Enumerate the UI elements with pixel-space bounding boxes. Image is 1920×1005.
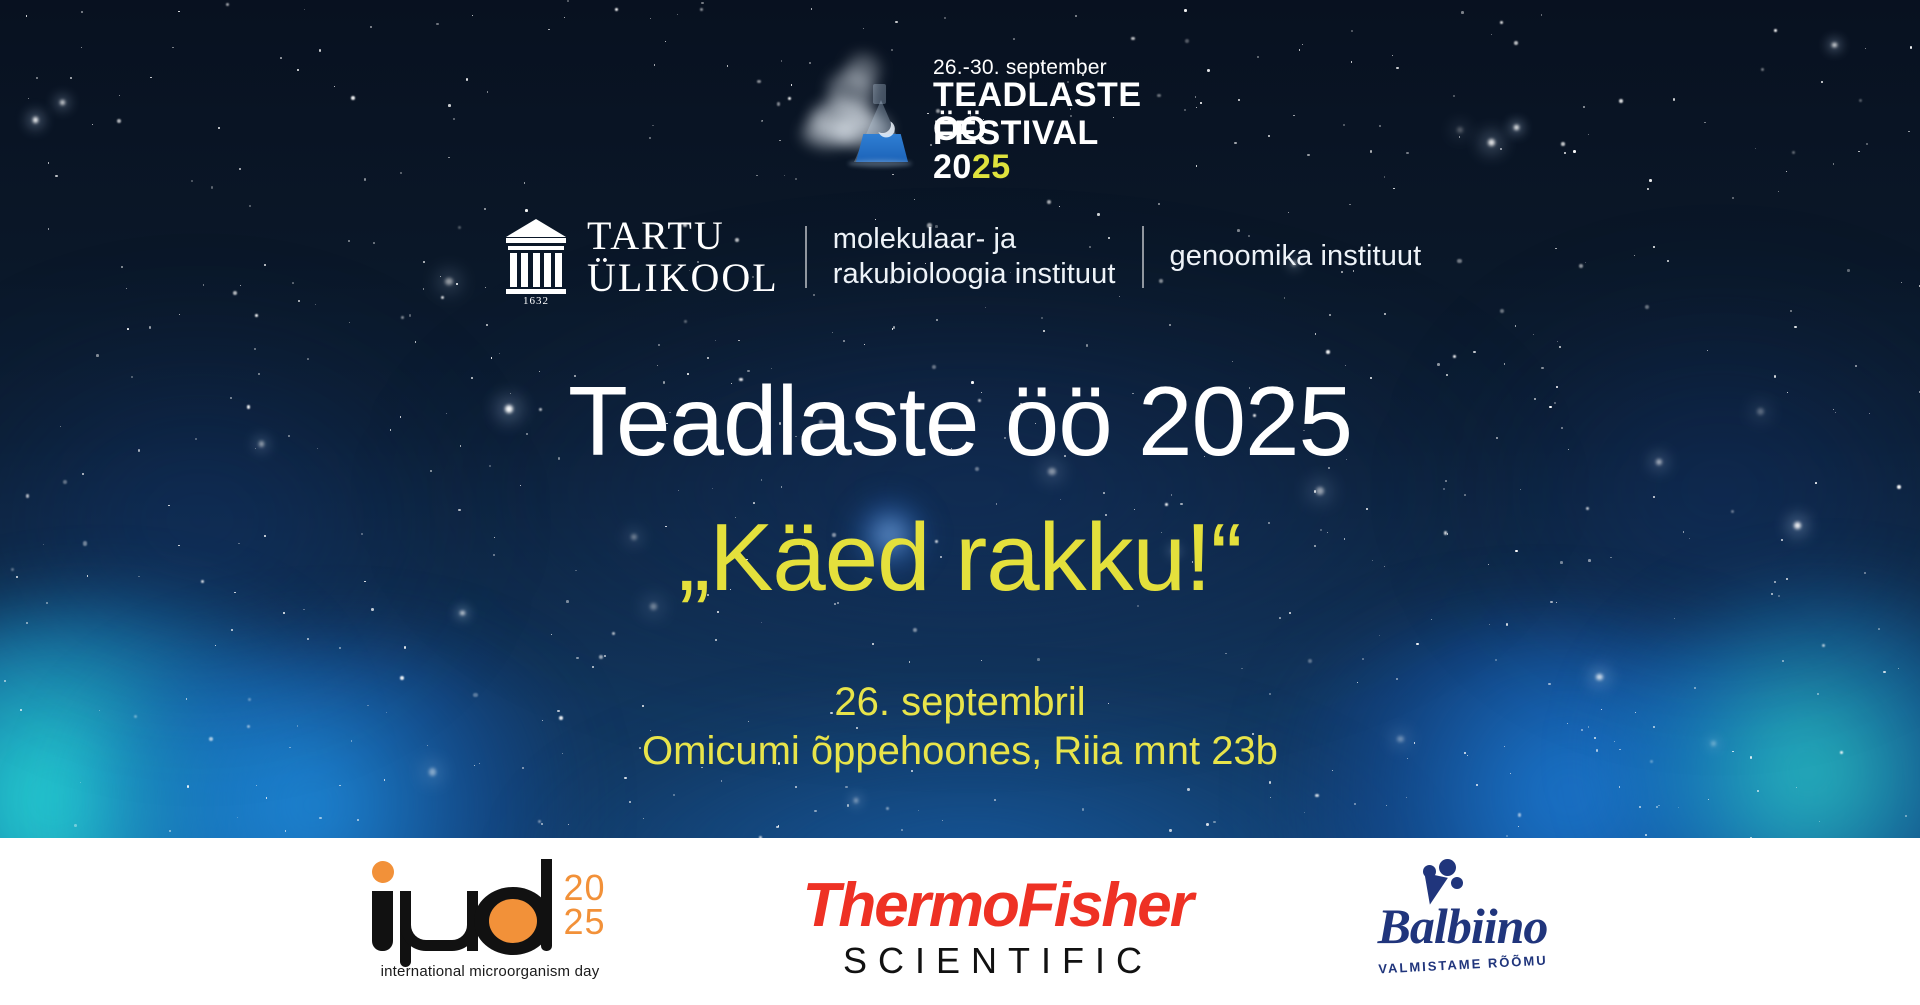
star xyxy=(80,782,81,783)
star xyxy=(994,799,996,801)
star xyxy=(756,175,758,177)
star xyxy=(1878,628,1880,630)
star xyxy=(1082,808,1084,810)
festival-line2-accent: 25 xyxy=(972,148,1011,186)
star xyxy=(1796,787,1797,788)
star xyxy=(1314,490,1317,493)
page-title: Teadlaste öö 2025 xyxy=(0,372,1920,470)
star xyxy=(400,172,402,174)
star xyxy=(1459,136,1461,138)
star xyxy=(1564,152,1566,154)
star xyxy=(226,3,229,6)
star xyxy=(401,316,404,319)
star xyxy=(738,340,739,341)
star xyxy=(1476,784,1478,786)
star xyxy=(55,175,58,178)
star xyxy=(624,777,627,780)
star xyxy=(1559,346,1561,348)
star xyxy=(654,64,656,66)
star xyxy=(1790,310,1792,312)
institute-genomics: genoomika instituut xyxy=(1170,239,1422,274)
star xyxy=(1858,151,1860,153)
star xyxy=(1315,333,1317,335)
star xyxy=(1821,81,1823,83)
star xyxy=(784,175,785,176)
thermofisher-scientific: SCIENTIFIC xyxy=(803,940,1183,982)
star xyxy=(351,96,355,100)
star xyxy=(1555,248,1557,250)
star xyxy=(82,473,84,475)
tartu-university-crest-icon: 1632 xyxy=(505,213,567,301)
sponsor-logo-balbiino: Balbiino VALMISTAME RÕÕMU xyxy=(1353,857,1573,987)
star xyxy=(1302,44,1303,45)
star xyxy=(1196,107,1197,108)
star xyxy=(1200,102,1202,104)
star xyxy=(357,819,359,821)
star xyxy=(781,60,783,62)
star xyxy=(26,622,28,624)
star xyxy=(1579,264,1583,268)
star xyxy=(117,119,121,123)
star xyxy=(1386,805,1388,807)
star xyxy=(1406,152,1409,155)
star xyxy=(126,288,128,290)
event-date: 26. septembril xyxy=(0,678,1920,727)
star xyxy=(918,810,919,811)
divider-2 xyxy=(1142,226,1144,288)
star xyxy=(1583,106,1585,108)
star xyxy=(629,801,632,804)
star xyxy=(1704,122,1706,124)
star xyxy=(1473,351,1475,353)
star xyxy=(700,8,703,11)
star xyxy=(757,80,760,83)
star xyxy=(1883,671,1886,674)
star xyxy=(285,830,287,832)
star xyxy=(1667,260,1669,262)
star xyxy=(777,102,781,106)
star xyxy=(567,0,569,2)
star xyxy=(1506,623,1509,626)
star xyxy=(1514,125,1519,130)
star xyxy=(1279,617,1281,619)
star xyxy=(319,49,322,52)
star xyxy=(169,830,171,832)
star xyxy=(1268,135,1270,137)
star xyxy=(339,785,340,786)
star xyxy=(348,240,350,242)
star xyxy=(149,326,152,329)
star xyxy=(1171,494,1173,496)
star xyxy=(1515,325,1516,326)
star xyxy=(1293,115,1295,117)
star xyxy=(1897,485,1901,489)
star xyxy=(423,288,424,289)
star xyxy=(1157,94,1160,97)
star xyxy=(254,348,256,350)
balbiino-tagline: VALMISTAME RÕÕMU xyxy=(1352,951,1572,977)
star xyxy=(1354,803,1356,805)
star xyxy=(673,794,676,797)
star xyxy=(1500,148,1502,150)
star xyxy=(1761,68,1764,71)
star xyxy=(1195,96,1197,98)
star xyxy=(1206,823,1209,826)
star xyxy=(1588,134,1589,135)
star xyxy=(48,162,50,164)
star xyxy=(1708,799,1710,801)
star xyxy=(854,798,859,803)
star xyxy=(592,666,594,668)
star xyxy=(1241,668,1243,670)
star xyxy=(1307,154,1309,156)
star xyxy=(712,488,713,489)
star xyxy=(1645,305,1649,309)
star xyxy=(1453,95,1455,97)
star xyxy=(1075,15,1077,17)
star xyxy=(847,804,849,806)
star xyxy=(491,357,492,358)
star xyxy=(863,28,864,29)
star xyxy=(1213,821,1215,823)
star xyxy=(1443,488,1445,490)
star xyxy=(280,57,282,59)
star xyxy=(913,628,917,632)
crest-year: 1632 xyxy=(505,295,567,307)
star xyxy=(721,780,723,782)
star xyxy=(1041,317,1043,319)
star xyxy=(1898,668,1900,670)
star xyxy=(649,137,651,139)
star xyxy=(1647,188,1649,190)
star xyxy=(1533,334,1534,335)
star xyxy=(1315,794,1319,798)
university-name-line2: ÜLIKOOL xyxy=(587,257,779,299)
star xyxy=(292,282,294,284)
star xyxy=(283,612,285,614)
star xyxy=(901,829,903,831)
star xyxy=(264,264,267,267)
star xyxy=(1847,269,1849,271)
star xyxy=(384,779,385,780)
imd-wordmark-icon: 20 25 xyxy=(348,857,633,949)
star xyxy=(715,639,717,641)
star xyxy=(440,276,442,278)
star xyxy=(652,125,654,127)
star xyxy=(1169,324,1172,327)
star xyxy=(1658,805,1660,807)
star xyxy=(1043,330,1045,332)
imd-year-top: 20 xyxy=(564,871,606,905)
star xyxy=(1792,151,1795,154)
star xyxy=(472,15,473,16)
star xyxy=(121,266,124,269)
star xyxy=(499,353,501,355)
star xyxy=(1500,309,1504,313)
star xyxy=(1379,125,1381,127)
star xyxy=(1406,797,1407,798)
star xyxy=(1905,815,1907,817)
star xyxy=(684,320,687,323)
institute1-line1: molekulaar- ja xyxy=(833,222,1116,257)
star xyxy=(1833,163,1835,165)
star xyxy=(1270,797,1271,798)
star xyxy=(1393,188,1395,190)
star xyxy=(1901,282,1902,283)
star xyxy=(1225,653,1226,654)
star xyxy=(1416,643,1419,646)
star xyxy=(303,609,304,610)
star xyxy=(1649,179,1652,182)
star xyxy=(1185,39,1189,43)
star xyxy=(1520,489,1521,490)
star xyxy=(1514,41,1518,45)
star xyxy=(1732,197,1734,199)
star xyxy=(776,826,779,829)
star xyxy=(1047,200,1051,204)
star xyxy=(1308,659,1312,663)
star xyxy=(298,300,300,302)
star xyxy=(458,226,461,229)
star xyxy=(892,174,894,176)
star xyxy=(1794,326,1796,328)
imd-caption: international microorganism day xyxy=(348,963,633,980)
star xyxy=(1316,487,1324,495)
star xyxy=(150,77,152,79)
star xyxy=(1855,365,1857,367)
star xyxy=(127,328,129,330)
star xyxy=(1518,813,1522,817)
star xyxy=(334,86,335,87)
star xyxy=(985,307,986,308)
star xyxy=(215,645,216,646)
star xyxy=(315,304,316,305)
star xyxy=(944,17,946,19)
star xyxy=(1859,99,1862,102)
star xyxy=(788,97,791,100)
star xyxy=(1634,255,1636,257)
university-lockup: 1632 TARTU ÜLIKOOL molekulaar- ja rakubi… xyxy=(505,212,1421,302)
star xyxy=(1453,355,1457,359)
star xyxy=(448,104,451,107)
star xyxy=(211,186,214,189)
star xyxy=(1782,660,1784,662)
divider-1 xyxy=(805,226,807,288)
star xyxy=(239,168,241,170)
star xyxy=(28,98,29,99)
imd-year: 20 25 xyxy=(564,871,606,939)
star xyxy=(1557,341,1559,343)
star xyxy=(1304,812,1305,813)
star xyxy=(1326,350,1330,354)
institute1-line2: rakubioloogia instituut xyxy=(833,257,1116,292)
star xyxy=(484,208,486,210)
festival-title-line2: FESTIVAL 2025 xyxy=(933,116,1145,184)
balbiino-wordmark: Balbiino xyxy=(1353,897,1573,955)
star xyxy=(178,11,180,13)
star xyxy=(936,319,938,321)
imd-year-bottom: 25 xyxy=(564,905,606,939)
star xyxy=(26,494,30,498)
star xyxy=(415,341,417,343)
star xyxy=(1822,644,1825,647)
star xyxy=(1489,624,1490,625)
star xyxy=(1370,150,1373,153)
star xyxy=(1289,612,1291,614)
star xyxy=(1561,142,1565,146)
star xyxy=(1865,48,1866,49)
university-name-line1: TARTU xyxy=(587,215,779,257)
event-venue: Omicumi õppehoones, Riia mnt 23b xyxy=(0,727,1920,776)
star xyxy=(1645,834,1647,836)
star xyxy=(864,344,866,346)
star xyxy=(485,287,486,288)
star xyxy=(1299,49,1301,51)
star xyxy=(119,95,120,96)
star xyxy=(612,632,615,635)
star xyxy=(1585,262,1586,263)
star xyxy=(1349,204,1350,205)
star xyxy=(1232,361,1233,362)
star xyxy=(576,657,578,659)
star xyxy=(81,11,84,14)
star xyxy=(762,120,763,121)
star xyxy=(1518,826,1519,827)
star xyxy=(1819,821,1820,822)
star xyxy=(1169,829,1171,831)
star xyxy=(1329,314,1331,316)
festival-line2-prefix: FESTIVAL 20 xyxy=(933,114,1098,186)
star xyxy=(604,655,606,657)
star xyxy=(256,785,257,786)
star xyxy=(486,324,488,326)
star xyxy=(1269,781,1272,784)
star xyxy=(404,646,406,648)
star xyxy=(179,314,180,315)
star xyxy=(1619,786,1621,788)
star xyxy=(364,178,367,181)
star xyxy=(445,278,453,286)
star xyxy=(297,69,299,71)
star xyxy=(781,486,783,488)
star xyxy=(1491,34,1492,35)
star xyxy=(1103,492,1105,494)
star xyxy=(1059,206,1060,207)
star xyxy=(1707,350,1708,351)
star xyxy=(1158,203,1160,205)
star xyxy=(33,117,39,123)
star xyxy=(1639,806,1642,809)
star xyxy=(36,77,38,79)
star xyxy=(893,326,896,329)
thermofisher-wordmark: ThermoFisher xyxy=(803,870,1183,941)
star xyxy=(1815,482,1817,484)
star xyxy=(1755,148,1756,149)
star xyxy=(909,661,910,662)
star xyxy=(727,65,728,66)
star xyxy=(658,344,660,346)
star xyxy=(1351,30,1353,32)
star xyxy=(701,2,704,5)
star xyxy=(448,157,450,159)
star xyxy=(1573,150,1576,153)
star xyxy=(761,622,762,623)
star xyxy=(237,817,238,818)
star xyxy=(1757,790,1759,792)
star xyxy=(548,29,550,31)
star xyxy=(304,9,305,10)
star xyxy=(795,786,798,789)
star xyxy=(349,322,351,324)
star xyxy=(453,118,455,120)
star xyxy=(599,655,603,659)
star xyxy=(1437,363,1440,366)
star xyxy=(1384,176,1386,178)
star xyxy=(1619,99,1623,103)
star xyxy=(63,480,67,484)
star xyxy=(1653,246,1655,248)
star xyxy=(26,15,28,17)
star xyxy=(643,818,644,819)
star xyxy=(1396,67,1399,70)
star xyxy=(1500,21,1503,24)
star xyxy=(1678,807,1679,808)
star xyxy=(233,291,237,295)
star xyxy=(48,228,49,229)
star xyxy=(1866,143,1868,145)
star xyxy=(249,205,252,208)
star xyxy=(70,77,72,79)
star xyxy=(1786,171,1787,172)
star xyxy=(568,824,569,825)
star xyxy=(832,332,834,334)
star xyxy=(1541,367,1544,370)
star xyxy=(1488,139,1495,146)
star xyxy=(423,261,425,263)
star xyxy=(172,47,173,48)
star xyxy=(1832,43,1837,48)
star xyxy=(307,638,309,640)
star xyxy=(1343,124,1345,126)
star xyxy=(307,358,309,360)
star xyxy=(1457,127,1463,133)
star xyxy=(1187,788,1190,791)
star xyxy=(981,660,982,661)
star xyxy=(460,611,465,616)
star xyxy=(168,505,169,506)
star xyxy=(1504,363,1505,364)
star xyxy=(92,124,93,125)
star xyxy=(81,47,83,49)
star xyxy=(1495,659,1497,661)
star xyxy=(1541,14,1543,16)
star xyxy=(872,643,874,645)
star xyxy=(1238,99,1241,102)
star xyxy=(1384,313,1386,315)
page-subtitle: „Käed rakku!“ xyxy=(0,510,1920,606)
star xyxy=(487,91,489,93)
event-details: 26. septembril Omicumi õppehoones, Riia … xyxy=(0,678,1920,776)
sponsor-bar: 20 25 international microorganism day Th… xyxy=(0,838,1920,1005)
star xyxy=(564,17,566,19)
star xyxy=(1184,109,1186,111)
star xyxy=(551,634,553,636)
star xyxy=(1184,9,1187,12)
star xyxy=(811,8,813,10)
star xyxy=(1774,29,1777,32)
star xyxy=(255,314,258,317)
star xyxy=(914,199,915,200)
